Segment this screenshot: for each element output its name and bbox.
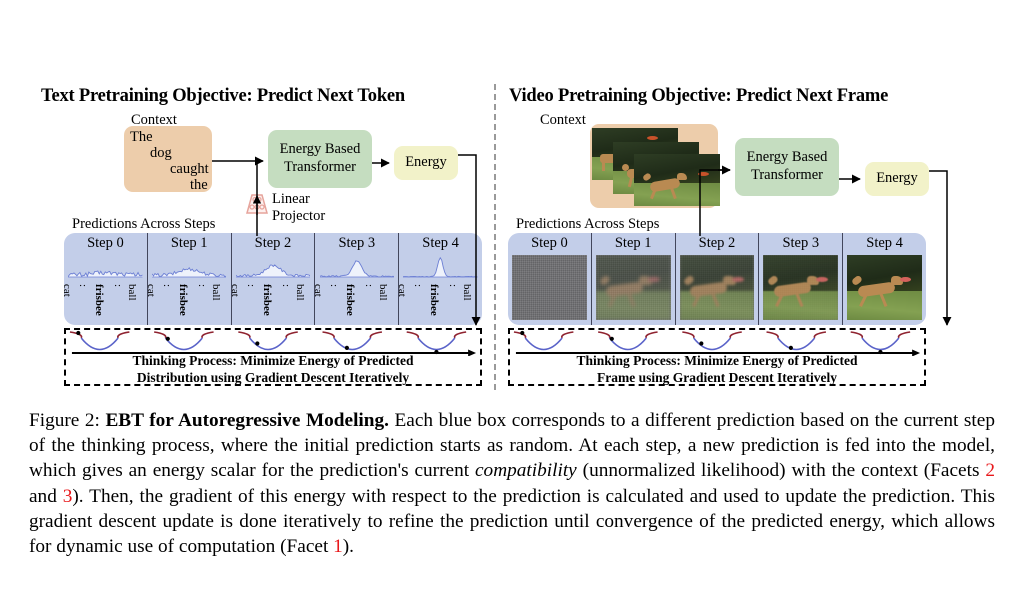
token-distribution-plot	[68, 257, 143, 283]
step-title: Step 2	[232, 235, 315, 252]
step-title: Step 1	[592, 235, 675, 252]
frisbee-icon	[647, 136, 658, 140]
right-thinking-process-label: Thinking Process: Minimize Energy of Pre…	[510, 352, 924, 387]
step-title: Step 2	[676, 235, 759, 252]
right-step-cell: Step 1	[592, 233, 676, 325]
step-title: Step 3	[759, 235, 842, 252]
context-word-stack: The dog caught the	[124, 126, 212, 192]
figure-2-diagram: Text Pretraining Objective: Predict Next…	[0, 0, 1024, 614]
context-frame-2	[634, 154, 720, 206]
step-title: Step 4	[843, 235, 926, 252]
caption-bold-title: EBT for Autoregressive Modeling.	[105, 410, 389, 431]
caption-italic-compatibility: compatibility	[475, 460, 577, 481]
noise-texture	[512, 255, 587, 320]
left-steps-strip: Step 0cat:frisbee:ballStep 1cat:frisbee:…	[64, 233, 482, 325]
left-energy-box: Energy	[394, 146, 458, 180]
left-step-cell: Step 2cat:frisbee:ball	[232, 233, 316, 325]
token-label: ball	[461, 284, 473, 301]
token-label: cat	[145, 284, 157, 297]
left-step-cell: Step 0cat:frisbee:ball	[64, 233, 148, 325]
right-step-cell: Step 2	[676, 233, 760, 325]
linear-projector: Linear Projector	[245, 193, 365, 237]
left-step-cell: Step 3cat:frisbee:ball	[315, 233, 399, 325]
token-ellipsis: :	[161, 284, 173, 288]
facet-reference-3: 3	[63, 486, 73, 507]
right-step-cell: Step 3	[759, 233, 843, 325]
token-label: frisbee	[428, 284, 440, 316]
predicted-frame	[763, 255, 838, 320]
right-step-cell: Step 4	[843, 233, 926, 325]
step-title: Step 3	[315, 235, 398, 252]
predicted-frame	[596, 255, 671, 320]
step-title: Step 0	[508, 235, 591, 252]
right-ebt-box: Energy Based Transformer	[735, 138, 839, 196]
caption-text-5: ).	[343, 536, 354, 557]
token-ellipsis: :	[363, 284, 375, 288]
token-label: frisbee	[344, 284, 356, 316]
left-panel-title: Text Pretraining Objective: Predict Next…	[41, 86, 405, 107]
right-context-label: Context	[540, 112, 586, 129]
right-predictions-label: Predictions Across Steps	[516, 216, 659, 233]
left-ebt-label: Energy Based Transformer	[280, 141, 361, 176]
context-word-1: dog	[150, 145, 172, 163]
token-ellipsis: :	[77, 284, 89, 288]
token-label: cat	[312, 284, 324, 297]
caption-text-2: (unnormalized likelihood) with the conte…	[577, 460, 986, 481]
left-context-box: The dog caught the	[124, 126, 212, 192]
step-title: Step 1	[148, 235, 231, 252]
token-label: cat	[396, 284, 408, 297]
predicted-frame	[680, 255, 755, 320]
facet-reference-1: 1	[333, 536, 343, 557]
right-energy-box: Energy	[865, 162, 929, 196]
token-label: ball	[294, 284, 306, 301]
token-ellipsis: :	[245, 284, 257, 288]
token-ellipsis: :	[112, 284, 124, 288]
token-label-row: cat:frisbee:ball	[399, 283, 482, 323]
left-step-cell: Step 1cat:frisbee:ball	[148, 233, 232, 325]
left-thinking-process-label: Thinking Process: Minimize Energy of Pre…	[66, 352, 480, 387]
left-predictions-label: Predictions Across Steps	[72, 216, 215, 233]
predicted-frame	[847, 255, 922, 320]
token-ellipsis: :	[412, 284, 424, 288]
token-label: ball	[126, 284, 138, 301]
token-ellipsis: :	[328, 284, 340, 288]
token-label: frisbee	[177, 284, 189, 316]
token-ellipsis: :	[196, 284, 208, 288]
step-title: Step 0	[64, 235, 147, 252]
caption-text-4: ). Then, the gradient of this energy wit…	[29, 486, 995, 557]
token-label: ball	[210, 284, 222, 301]
token-label-row: cat:frisbee:ball	[64, 283, 147, 323]
linear-projector-icon	[245, 193, 269, 215]
left-thinking-process-box: Thinking Process: Minimize Energy of Pre…	[64, 328, 482, 386]
facet-reference-2: 2	[985, 460, 995, 481]
figure-caption: Figure 2: EBT for Autoregressive Modelin…	[29, 408, 995, 559]
token-distribution-plot	[320, 257, 395, 283]
panel-divider	[494, 84, 496, 390]
token-label-row: cat:frisbee:ball	[232, 283, 315, 323]
right-thinking-process-box: Thinking Process: Minimize Energy of Pre…	[508, 328, 926, 386]
right-panel-title: Video Pretraining Objective: Predict Nex…	[509, 86, 888, 107]
token-distribution-plot	[236, 257, 311, 283]
caption-figure-number: Figure 2:	[29, 410, 100, 431]
left-step-cell: Step 4cat:frisbee:ball	[399, 233, 482, 325]
token-label: ball	[377, 284, 389, 301]
token-label: frisbee	[261, 284, 273, 316]
predicted-frame	[512, 255, 587, 320]
caption-text-3: and	[29, 486, 63, 507]
token-ellipsis: :	[280, 284, 292, 288]
frisbee-icon	[698, 172, 709, 176]
token-label: frisbee	[93, 284, 105, 316]
right-ebt-label: Energy Based Transformer	[747, 149, 828, 184]
token-label-row: cat:frisbee:ball	[315, 283, 398, 323]
token-label: cat	[64, 284, 73, 297]
token-label: cat	[229, 284, 241, 297]
context-word-3: the	[190, 177, 208, 195]
right-step-cell: Step 0	[508, 233, 592, 325]
step-title: Step 4	[399, 235, 482, 252]
right-steps-strip: Step 0Step 1Step 2Step 3Step 4	[508, 233, 926, 325]
token-ellipsis: :	[447, 284, 459, 288]
token-label-row: cat:frisbee:ball	[148, 283, 231, 323]
left-ebt-box: Energy Based Transformer	[268, 130, 372, 188]
linear-projector-label: Linear Projector	[272, 191, 325, 226]
token-distribution-plot	[403, 257, 478, 283]
video-context-frames	[590, 124, 718, 208]
token-distribution-plot	[152, 257, 227, 283]
